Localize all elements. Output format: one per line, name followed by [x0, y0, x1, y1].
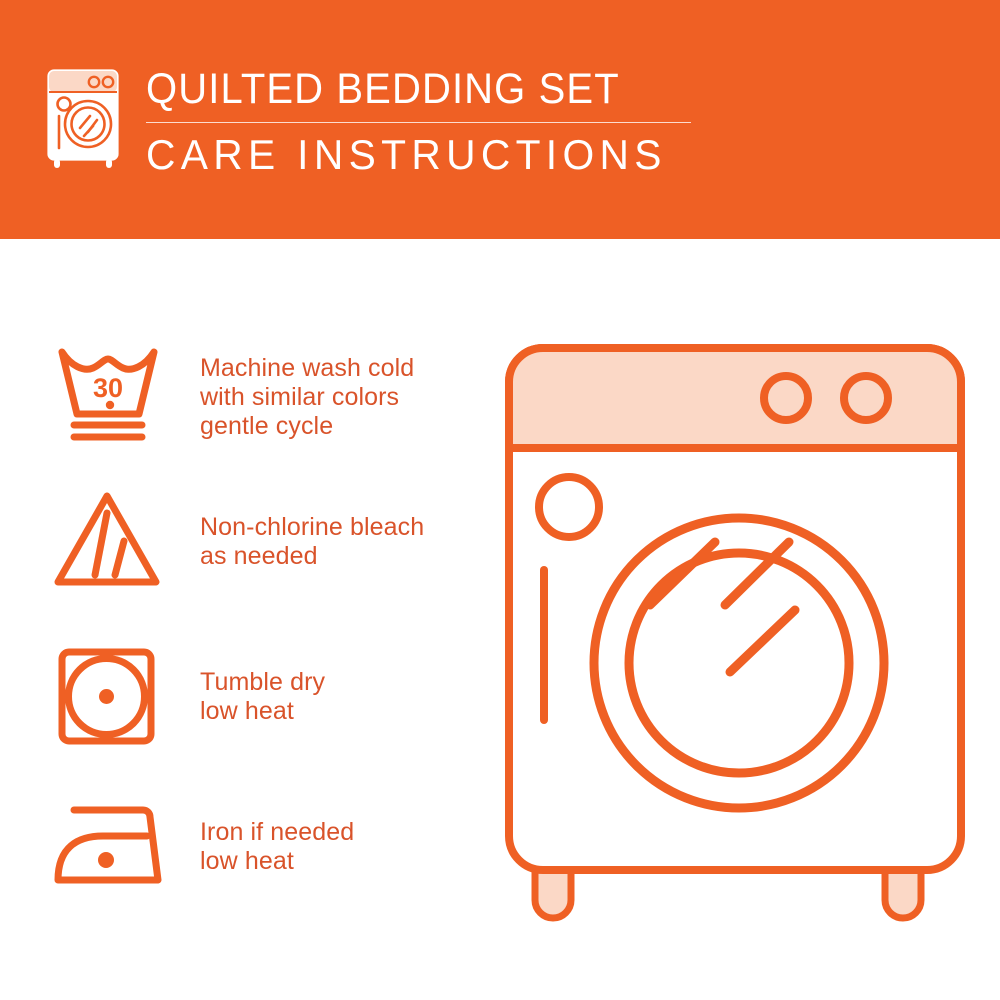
care-text-line: low heat — [200, 697, 325, 726]
page-subtitle: CARE INSTRUCTIONS — [146, 129, 675, 181]
care-text-line: as needed — [200, 542, 424, 571]
care-text-line: with similar colors — [200, 383, 414, 412]
care-text-line: gentle cycle — [200, 412, 414, 441]
care-item-text-bleach: Non-chlorine bleach as needed — [168, 487, 424, 571]
care-item-tumble-dry: Tumble dry low heat — [48, 642, 488, 752]
care-text-line: low heat — [200, 847, 354, 876]
care-instructions-list: 30 Machine wash cold with similar colors… — [0, 239, 500, 1000]
care-item-machine-wash: 30 Machine wash cold with similar colors… — [48, 342, 488, 452]
title-divider — [146, 122, 691, 123]
care-item-text-tumble-dry: Tumble dry low heat — [168, 642, 325, 726]
care-item-iron: Iron if needed low heat — [48, 792, 488, 902]
care-text-line: Iron if needed — [200, 818, 354, 847]
header-band: QUILTED BEDDING SET CARE INSTRUCTIONS — [0, 0, 1000, 239]
care-text-line: Machine wash cold — [200, 354, 414, 383]
triangle-non-chlorine-bleach-icon — [48, 487, 168, 597]
large-washing-machine-illustration — [490, 330, 980, 950]
header-content: QUILTED BEDDING SET CARE INSTRUCTIONS — [40, 62, 691, 181]
washing-machine-icon — [40, 62, 132, 172]
care-item-bleach: Non-chlorine bleach as needed — [48, 487, 488, 597]
tumble-dry-low-heat-icon — [48, 642, 168, 752]
care-text-line: Tumble dry — [200, 668, 325, 697]
wash-tub-30-gentle-icon: 30 — [48, 342, 168, 452]
header-title-group: QUILTED BEDDING SET CARE INSTRUCTIONS — [146, 62, 691, 181]
iron-low-heat-icon — [48, 792, 168, 902]
page-title: QUILTED BEDDING SET — [146, 64, 653, 114]
care-text-line: Non-chlorine bleach — [200, 513, 424, 542]
wash-temperature-label: 30 — [93, 373, 123, 403]
care-item-text-machine-wash: Machine wash cold with similar colors ge… — [168, 342, 414, 441]
care-instructions-page: QUILTED BEDDING SET CARE INSTRUCTIONS 30 — [0, 0, 1000, 1000]
care-item-text-iron: Iron if needed low heat — [168, 792, 354, 876]
